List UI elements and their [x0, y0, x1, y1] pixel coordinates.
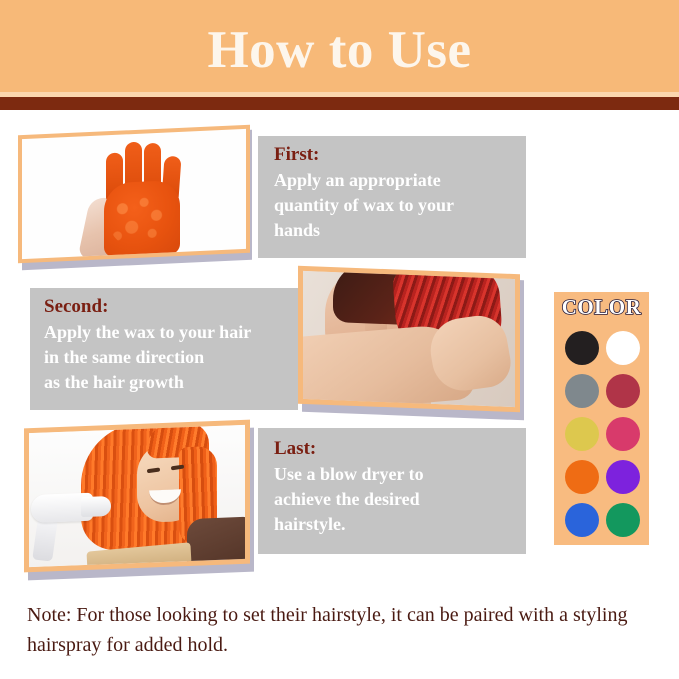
color-swatch-green[interactable]: [606, 503, 640, 537]
color-swatch-blue[interactable]: [565, 503, 599, 537]
photo-step-2-applying-wax: [303, 271, 515, 407]
step-body-second: Apply the wax to your hair in the same d…: [44, 320, 298, 395]
step-heading-last: Last:: [274, 436, 526, 462]
color-swatch-pink[interactable]: [606, 417, 640, 451]
photo-frame-step-2: [298, 266, 520, 413]
header-rule: [0, 97, 679, 110]
photo-frame-step-1: [18, 125, 250, 264]
step-card-first: First: Apply an appropriate quantity of …: [258, 136, 526, 258]
color-swatch-white[interactable]: [606, 331, 640, 365]
photo-frame-step-3: [24, 420, 250, 573]
hand-illustration: [84, 133, 202, 258]
color-swatch-purple[interactable]: [606, 460, 640, 494]
step-card-second: Second: Apply the wax to your hair in th…: [30, 288, 298, 410]
color-swatch-crimson[interactable]: [606, 374, 640, 408]
blow-dryer-nozzle: [81, 496, 111, 517]
photo-step-1-waxed-hand: [22, 129, 246, 259]
note-text: Note: For those looking to set their hai…: [27, 600, 643, 660]
color-swatch-orange[interactable]: [565, 460, 599, 494]
color-panel: COLOR: [554, 292, 649, 545]
step-body-first: Apply an appropriate quantity of wax to …: [274, 168, 526, 243]
step-card-last: Last: Use a blow dryer to achieve the de…: [258, 428, 526, 554]
photo-step-3-blow-drying: [29, 425, 245, 567]
color-swatch-grid: [561, 326, 643, 541]
how-to-use-infographic: How to Use First: Apply an appropriate q…: [0, 0, 679, 679]
step-body-last: Use a blow dryer to achieve the desired …: [274, 462, 526, 537]
color-swatch-yellow[interactable]: [565, 417, 599, 451]
color-swatch-black[interactable]: [565, 331, 599, 365]
color-panel-title: COLOR: [554, 295, 649, 320]
color-swatch-gray[interactable]: [565, 374, 599, 408]
step-heading-second: Second:: [44, 294, 298, 320]
step-heading-first: First:: [274, 142, 526, 168]
page-title: How to Use: [0, 20, 679, 80]
shirt-shape: [187, 517, 245, 567]
wax-texture: [110, 190, 172, 247]
